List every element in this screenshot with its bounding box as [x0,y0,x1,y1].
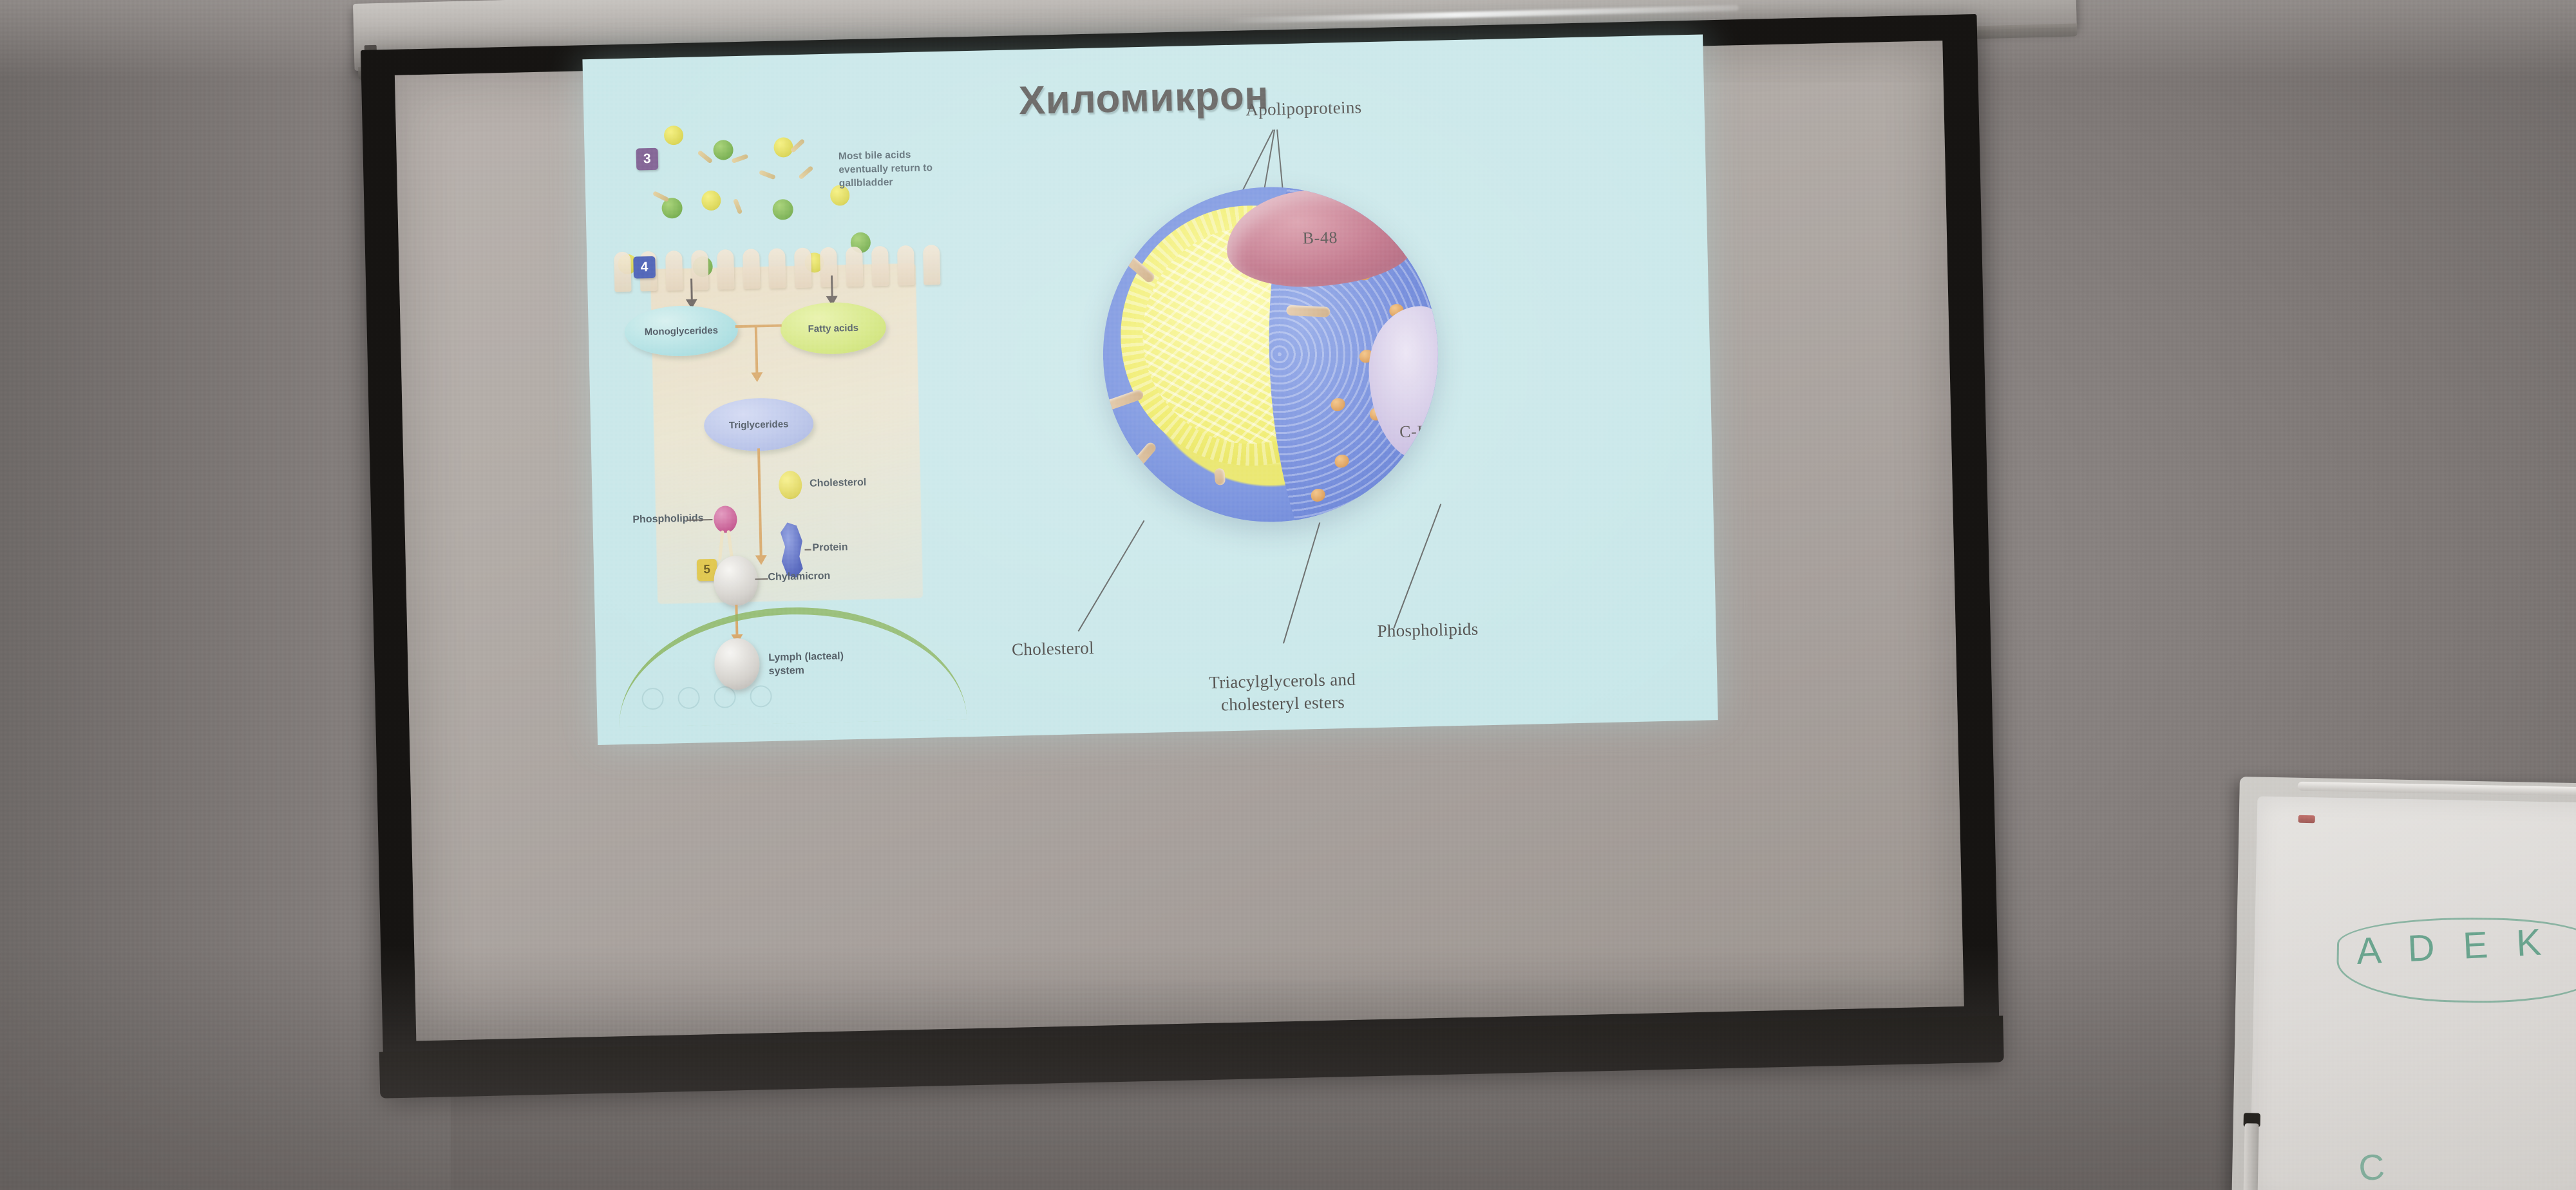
whiteboard: A D E K C [2231,777,2576,1190]
micelle-icon [773,137,793,158]
step-badge-3: 3 [636,148,659,171]
bile-acid-note: Most bile acids eventually return to gal… [838,148,936,191]
bile-acid-rod-icon [652,191,669,202]
whiteboard-note-extra: C [2357,1146,2386,1189]
apolipoprotein-b48-label: B-48 [1302,228,1338,248]
micelle-icon [772,199,793,220]
projected-slide: Хиломикрон [582,34,1718,745]
bile-acid-rod-icon [798,165,813,180]
bile-acid-rod-icon [731,154,748,164]
bile-acid-rod-icon [697,150,714,164]
step-badge-4: 4 [633,256,656,279]
micelle-icon [701,191,721,211]
label-lymph-system: Lymph (lacteal) system [768,650,866,679]
label-apolipoproteins: Apolipoproteins [1245,97,1362,120]
classroom-photo-scene: Optoma Хиломикрон [0,0,2576,1190]
cholesterol-stick-icon [1286,305,1331,317]
bile-acid-rod-icon [733,198,743,214]
micelle-icon [664,126,684,146]
label-chylamicron: Chylamicron [768,571,830,583]
whiteboard-marker [2243,1123,2259,1190]
slide-watermark [641,685,772,710]
wall-bottom-gradient [0,945,2576,1190]
chylomicron-cutaway-diagram: Apolipoproteins [970,81,1699,735]
whiteboard-magnet [2298,815,2315,823]
cholesterol-stick-icon [1101,388,1145,412]
projector-screen: Хиломикрон [361,14,2000,1106]
cholesterol-stick-icon [1124,440,1158,477]
chylomicron-sphere: B-48 C-III C-II [1099,184,1441,525]
apolipoprotein-c3-label: C-III [1399,422,1435,442]
label-cholesterol: Cholesterol [810,477,866,490]
callout-cholesterol: Cholesterol [1012,638,1094,660]
callout-triacylglycerols: Triacylglycerols and cholesteryl esters [1176,668,1389,717]
micelle-icon [713,140,734,160]
brush-border [614,245,949,296]
bile-acid-rod-icon [759,170,776,180]
cholesterol-stick-icon [1214,468,1226,486]
callout-phospholipids: Phospholipids [1377,619,1479,641]
enterocyte-diagram: Most bile acids eventually return to gal… [611,107,959,713]
label-protein: Protein [812,542,848,554]
